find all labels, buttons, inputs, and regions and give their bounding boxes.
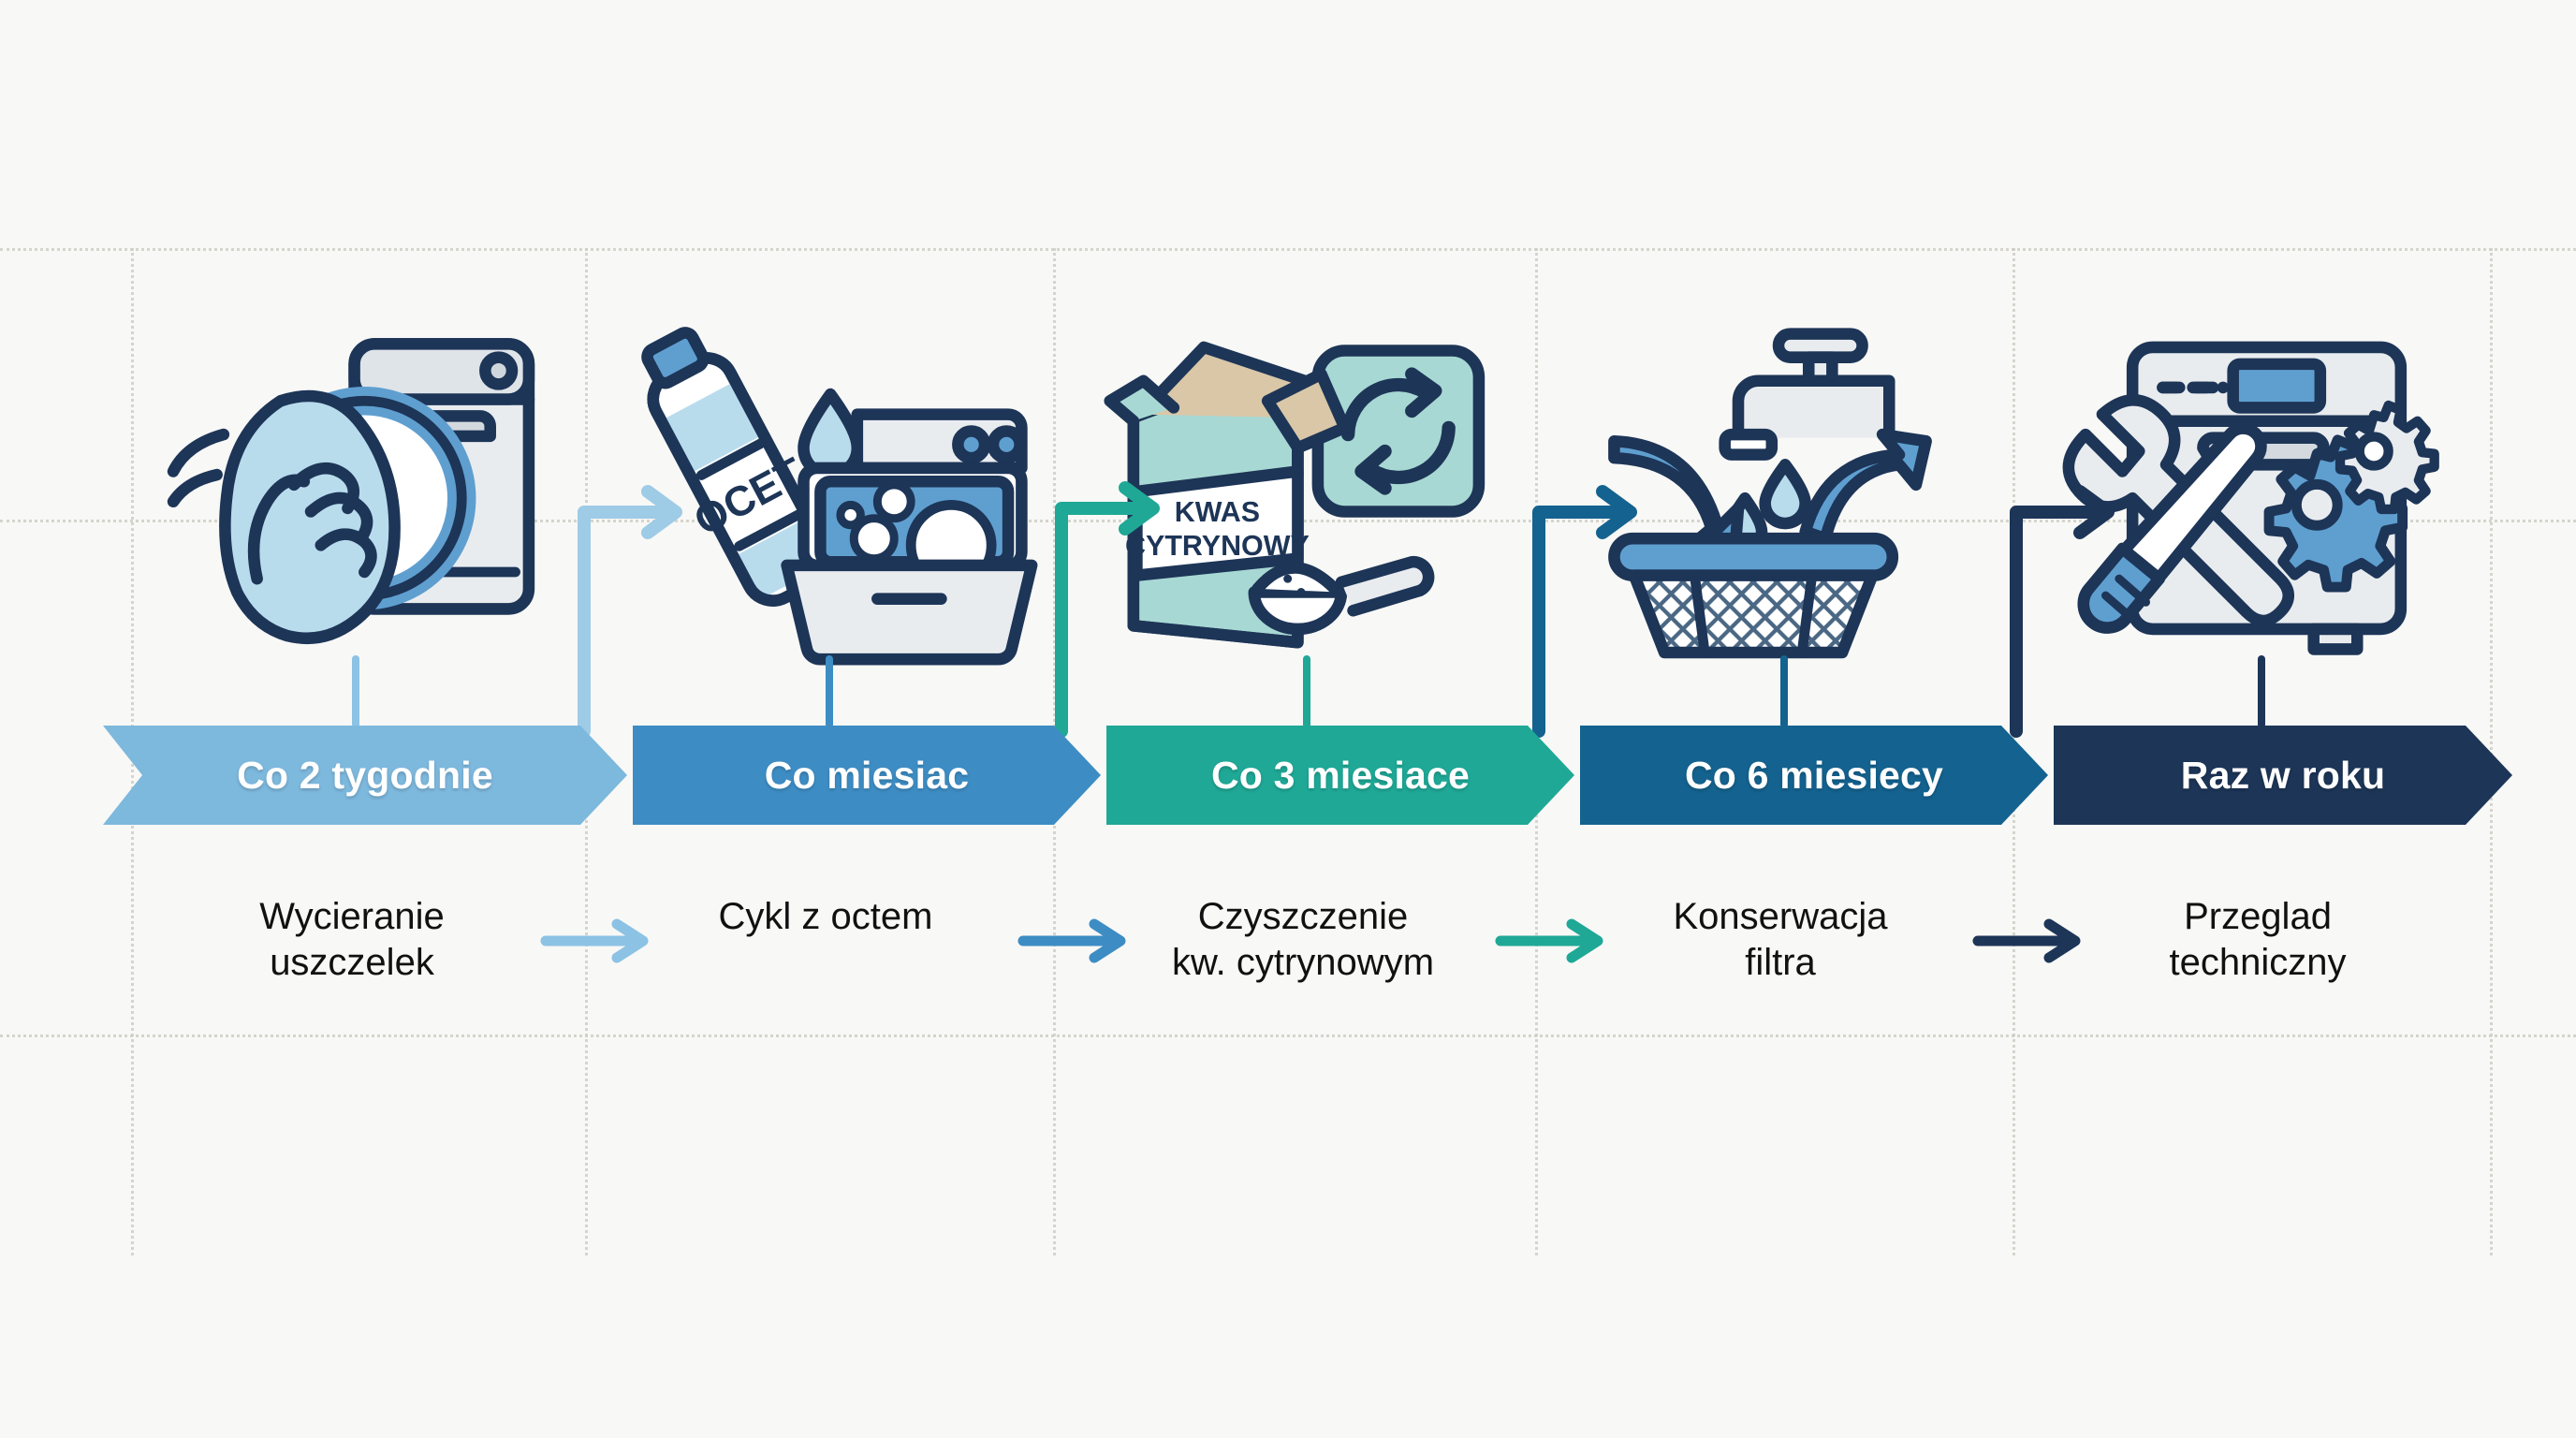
- caption-line: Czyszczenie: [1097, 894, 1509, 940]
- grid-line-horizontal: [0, 248, 2576, 251]
- caption-arrow-3-4: [1493, 913, 1615, 969]
- caption-step-4: Konserwacja filtra: [1574, 894, 1986, 986]
- elbow-arrow-4-5: [1994, 463, 2144, 735]
- elbow-arrow-1-2: [562, 463, 711, 735]
- chevron-label-5: Raz w roku: [2181, 754, 2385, 798]
- stem-connector-4: [1780, 655, 1788, 728]
- stem-connector-1: [352, 655, 359, 728]
- stem-connector-2: [826, 655, 833, 728]
- chevron-label-1: Co 2 tygodnie: [237, 754, 493, 798]
- caption-line: kw. cytrynowym: [1097, 940, 1509, 986]
- chevron-step-4[interactable]: Co 6 miesiecy: [1580, 726, 2048, 825]
- chevron-label-4: Co 6 miesiecy: [1685, 754, 1943, 798]
- elbow-arrow-3-4: [1516, 463, 1666, 735]
- timeline-chevron-band: Co 2 tygodnie Co miesiac Co 3 miesiace C…: [0, 726, 2576, 825]
- caption-step-5: Przeglad techniczny: [2052, 894, 2464, 986]
- chevron-label-2: Co miesiac: [765, 754, 970, 798]
- caption-line: Konserwacja: [1574, 894, 1986, 940]
- caption-arrow-1-2: [538, 913, 660, 969]
- caption-step-2: Cykl z octem: [620, 894, 1032, 940]
- caption-line: techniczny: [2052, 940, 2464, 986]
- chevron-step-5[interactable]: Raz w roku: [2054, 726, 2512, 825]
- caption-arrow-2-3: [1016, 913, 1137, 969]
- caption-line: uszczelek: [146, 940, 558, 986]
- caption-step-3: Czyszczenie kw. cytrynowym: [1097, 894, 1509, 986]
- elbow-arrow-2-3: [1039, 463, 1189, 735]
- caption-arrow-4-5: [1970, 913, 2092, 969]
- chevron-step-2[interactable]: Co miesiac: [633, 726, 1101, 825]
- chevron-step-1[interactable]: Co 2 tygodnie: [103, 726, 627, 825]
- wipe-seal-cloth-dishwasher-icon: [150, 323, 552, 660]
- background-grid: [0, 0, 2576, 1438]
- infographic-canvas: OCET: [0, 0, 2576, 1438]
- stem-connector-5: [2258, 655, 2265, 728]
- chevron-label-3: Co 3 miesiace: [1211, 754, 1470, 798]
- caption-line: filtra: [1574, 940, 1986, 986]
- stem-connector-3: [1303, 655, 1310, 728]
- grid-line-horizontal: [0, 1034, 2576, 1037]
- caption-line: Wycieranie: [146, 894, 558, 940]
- caption-line: Przeglad: [2052, 894, 2464, 940]
- caption-step-1: Wycieranie uszczelek: [146, 894, 558, 986]
- caption-line: Cykl z octem: [620, 894, 1032, 940]
- chevron-step-3[interactable]: Co 3 miesiace: [1106, 726, 1574, 825]
